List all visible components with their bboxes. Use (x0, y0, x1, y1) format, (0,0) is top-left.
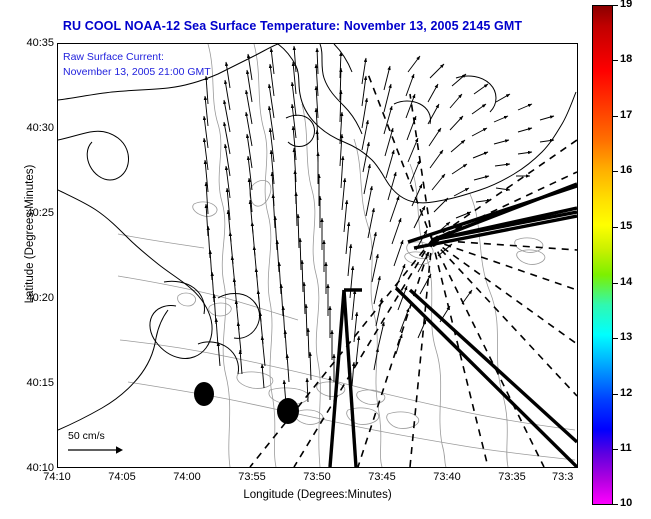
colorbar-tick-15 (613, 227, 618, 228)
colorbar-tick-10 (613, 504, 618, 505)
xtick-label-74-10: 74:10 (32, 471, 82, 483)
colorbar-label-13: 13 (620, 331, 632, 343)
map-graphics (58, 44, 577, 467)
sst-current-figure: RU COOL NOAA-12 Sea Surface Temperature:… (0, 0, 651, 519)
colorbar-label-12: 12 (620, 387, 632, 399)
colorbar-tick-18 (613, 60, 618, 61)
page-title: RU COOL NOAA-12 Sea Surface Temperature:… (0, 19, 585, 33)
colorbar-label-16: 16 (620, 164, 632, 176)
colorbar-tick-13 (613, 338, 618, 339)
xtick-label-74-05: 74:05 (97, 471, 147, 483)
colorbar-tick-14 (613, 283, 618, 284)
vector-scale-legend: 50 cm/s (66, 430, 162, 456)
x-axis-title: Longitude (Degrees:Minutes) (57, 489, 578, 501)
colorbar-tick-11 (613, 449, 618, 450)
colorbar-label-15: 15 (620, 220, 632, 232)
xtick-label-73-50: 73:50 (292, 471, 342, 483)
temperature-colorbar[interactable] (592, 5, 613, 505)
bathymetry-contours (118, 44, 575, 467)
xtick-label-73-30: 73:3 (552, 471, 592, 483)
right-arrow-icon (66, 444, 126, 456)
colorbar-tick-17 (613, 116, 618, 117)
ytick-label-40-30: 40:30 (26, 122, 54, 134)
xtick-label-73-35: 73:35 (487, 471, 537, 483)
colorbar-tick-16 (613, 171, 618, 172)
colorbar-label-19: 19 (620, 0, 632, 10)
xtick-label-73-40: 73:40 (422, 471, 472, 483)
colorbar-gradient (593, 6, 612, 504)
xtick-label-73-55: 73:55 (227, 471, 277, 483)
colorbar-label-14: 14 (620, 276, 632, 288)
colorbar-label-11: 11 (620, 442, 632, 454)
scale-legend-label: 50 cm/s (68, 430, 162, 442)
colorbar-tick-19 (613, 5, 618, 6)
colorbar-tick-12 (613, 394, 618, 395)
xtick-label-73-45: 73:45 (357, 471, 407, 483)
ytick-label-40-15: 40:15 (26, 377, 54, 389)
map-plot-area[interactable]: Raw Surface Current: November 13, 2005 2… (57, 43, 578, 468)
xtick-label-74-00: 74:00 (162, 471, 212, 483)
colorbar-label-18: 18 (620, 53, 632, 65)
y-axis-title: Latitude (Degrees:Minutes) (24, 134, 36, 334)
colorbar-label-17: 17 (620, 109, 632, 121)
colorbar-label-10: 10 (620, 497, 632, 509)
ytick-label-40-35: 40:35 (26, 37, 54, 49)
radar-beam-dashed-lines (250, 74, 577, 467)
